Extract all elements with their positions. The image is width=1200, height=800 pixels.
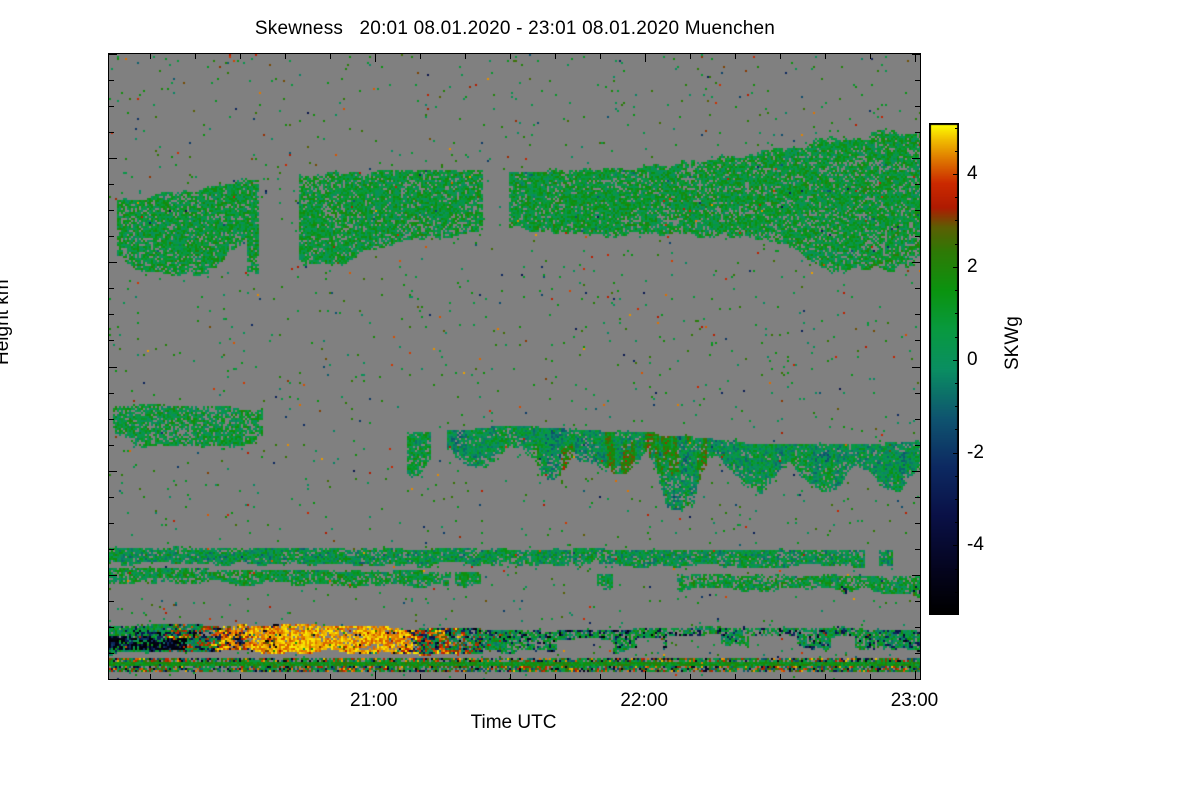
colorbar-minor-tick-mark (955, 151, 959, 152)
y-minor-tick-mark (109, 132, 114, 133)
y-tick-mark (109, 367, 117, 368)
y-minor-tick-mark (109, 80, 114, 81)
colorbar-tick-label: 2 (967, 256, 978, 278)
x-minor-tick-mark (195, 54, 196, 59)
y-minor-tick-mark (915, 340, 920, 341)
x-minor-tick-mark (240, 674, 241, 679)
colorbar-tick-mark (953, 174, 959, 175)
y-minor-tick-mark (109, 627, 114, 628)
y-minor-tick-mark (109, 288, 114, 289)
x-minor-tick-mark (285, 54, 286, 59)
y-minor-tick-mark (915, 288, 920, 289)
y-tick-mark (912, 262, 920, 263)
x-minor-tick-mark (780, 54, 781, 59)
colorbar-minor-tick-mark (955, 337, 959, 338)
x-minor-tick-mark (195, 674, 196, 679)
colorbar-minor-tick-mark (955, 592, 959, 593)
x-minor-tick-mark (690, 54, 691, 59)
y-tick-mark (912, 471, 920, 472)
heatmap-canvas (109, 54, 920, 679)
colorbar: 420-2-4 (929, 123, 959, 615)
y-tick-mark (109, 575, 117, 576)
x-minor-tick-mark (870, 674, 871, 679)
x-minor-tick-mark (600, 54, 601, 59)
colorbar-tick-label: -4 (967, 534, 984, 556)
y-tick-mark (912, 575, 920, 576)
colorbar-minor-tick-mark (955, 220, 959, 221)
x-tick-mark (915, 671, 916, 679)
x-minor-tick-mark (870, 54, 871, 59)
y-tick-mark (109, 158, 117, 159)
y-tick-mark (912, 158, 920, 159)
x-minor-tick-mark (150, 674, 151, 679)
x-axis-label: Time UTC (108, 712, 919, 734)
x-tick-mark (375, 671, 376, 679)
x-minor-tick-mark (330, 674, 331, 679)
x-minor-tick-mark (735, 54, 736, 59)
x-minor-tick-mark (420, 674, 421, 679)
x-minor-tick-mark (780, 674, 781, 679)
x-tick-mark (645, 671, 646, 679)
colorbar-minor-tick-mark (955, 383, 959, 384)
colorbar-minor-tick-mark (955, 406, 959, 407)
colorbar-tick-mark (953, 453, 959, 454)
y-minor-tick-mark (915, 549, 920, 550)
x-minor-tick-mark (330, 54, 331, 59)
y-tick-mark (109, 679, 117, 680)
y-minor-tick-mark (109, 497, 114, 498)
y-minor-tick-mark (915, 106, 920, 107)
y-tick-mark (912, 679, 920, 680)
y-minor-tick-mark (915, 445, 920, 446)
y-minor-tick-mark (109, 419, 114, 420)
x-minor-tick-mark (510, 674, 511, 679)
y-axis-label: Height km (0, 279, 14, 365)
y-minor-tick-mark (109, 445, 114, 446)
x-minor-tick-mark (420, 54, 421, 59)
colorbar-tick-label: 4 (967, 163, 978, 185)
colorbar-minor-tick-mark (955, 569, 959, 570)
x-minor-tick-mark (285, 674, 286, 679)
colorbar-tick-label: 0 (967, 349, 978, 371)
y-minor-tick-mark (915, 419, 920, 420)
y-minor-tick-mark (915, 314, 920, 315)
colorbar-tick-mark (953, 360, 959, 361)
y-minor-tick-mark (109, 184, 114, 185)
y-minor-tick-mark (915, 653, 920, 654)
x-minor-tick-mark (825, 54, 826, 59)
x-tick-label: 21:00 (314, 690, 434, 712)
radar-skewness-figure: Skewness 20:01 08.01.2020 - 23:01 08.01.… (0, 0, 1200, 800)
y-minor-tick-mark (915, 210, 920, 211)
y-minor-tick-mark (915, 627, 920, 628)
y-minor-tick-mark (915, 497, 920, 498)
colorbar-minor-tick-mark (955, 499, 959, 500)
x-minor-tick-mark (465, 54, 466, 59)
colorbar-minor-tick-mark (955, 313, 959, 314)
y-minor-tick-mark (109, 314, 114, 315)
y-minor-tick-mark (915, 80, 920, 81)
y-minor-tick-mark (109, 653, 114, 654)
y-tick-mark (109, 54, 117, 55)
x-minor-tick-mark (465, 674, 466, 679)
y-minor-tick-mark (109, 236, 114, 237)
colorbar-minor-tick-mark (955, 197, 959, 198)
x-minor-tick-mark (555, 674, 556, 679)
colorbar-minor-tick-mark (955, 290, 959, 291)
y-minor-tick-mark (915, 184, 920, 185)
page-title: Skewness 20:01 08.01.2020 - 23:01 08.01.… (0, 18, 1030, 40)
y-minor-tick-mark (915, 132, 920, 133)
colorbar-label: SKWg (1002, 316, 1024, 370)
y-minor-tick-mark (915, 393, 920, 394)
y-minor-tick-mark (915, 236, 920, 237)
x-tick-mark (375, 54, 376, 62)
x-minor-tick-mark (600, 674, 601, 679)
y-minor-tick-mark (109, 549, 114, 550)
y-minor-tick-mark (109, 340, 114, 341)
y-minor-tick-mark (915, 601, 920, 602)
y-tick-mark (912, 367, 920, 368)
x-minor-tick-mark (150, 54, 151, 59)
colorbar-tick-label: -2 (967, 442, 984, 464)
y-tick-mark (109, 262, 117, 263)
y-minor-tick-mark (109, 210, 114, 211)
y-minor-tick-mark (109, 523, 114, 524)
y-minor-tick-mark (109, 393, 114, 394)
x-minor-tick-mark (240, 54, 241, 59)
x-tick-mark (915, 54, 916, 62)
y-minor-tick-mark (109, 106, 114, 107)
plot-area (108, 53, 921, 680)
x-minor-tick-mark (735, 674, 736, 679)
colorbar-minor-tick-mark (955, 429, 959, 430)
y-tick-mark (109, 471, 117, 472)
x-minor-tick-mark (825, 674, 826, 679)
x-minor-tick-mark (555, 54, 556, 59)
colorbar-tick-mark (953, 545, 959, 546)
y-minor-tick-mark (109, 601, 114, 602)
x-tick-label: 22:00 (584, 690, 704, 712)
colorbar-tick-mark (953, 267, 959, 268)
colorbar-minor-tick-mark (955, 522, 959, 523)
colorbar-minor-tick-mark (955, 128, 959, 129)
x-minor-tick-mark (510, 54, 511, 59)
x-minor-tick-mark (690, 674, 691, 679)
colorbar-minor-tick-mark (955, 476, 959, 477)
x-tick-mark (645, 54, 646, 62)
y-minor-tick-mark (915, 523, 920, 524)
x-tick-label: 23:00 (854, 690, 974, 712)
colorbar-minor-tick-mark (955, 244, 959, 245)
